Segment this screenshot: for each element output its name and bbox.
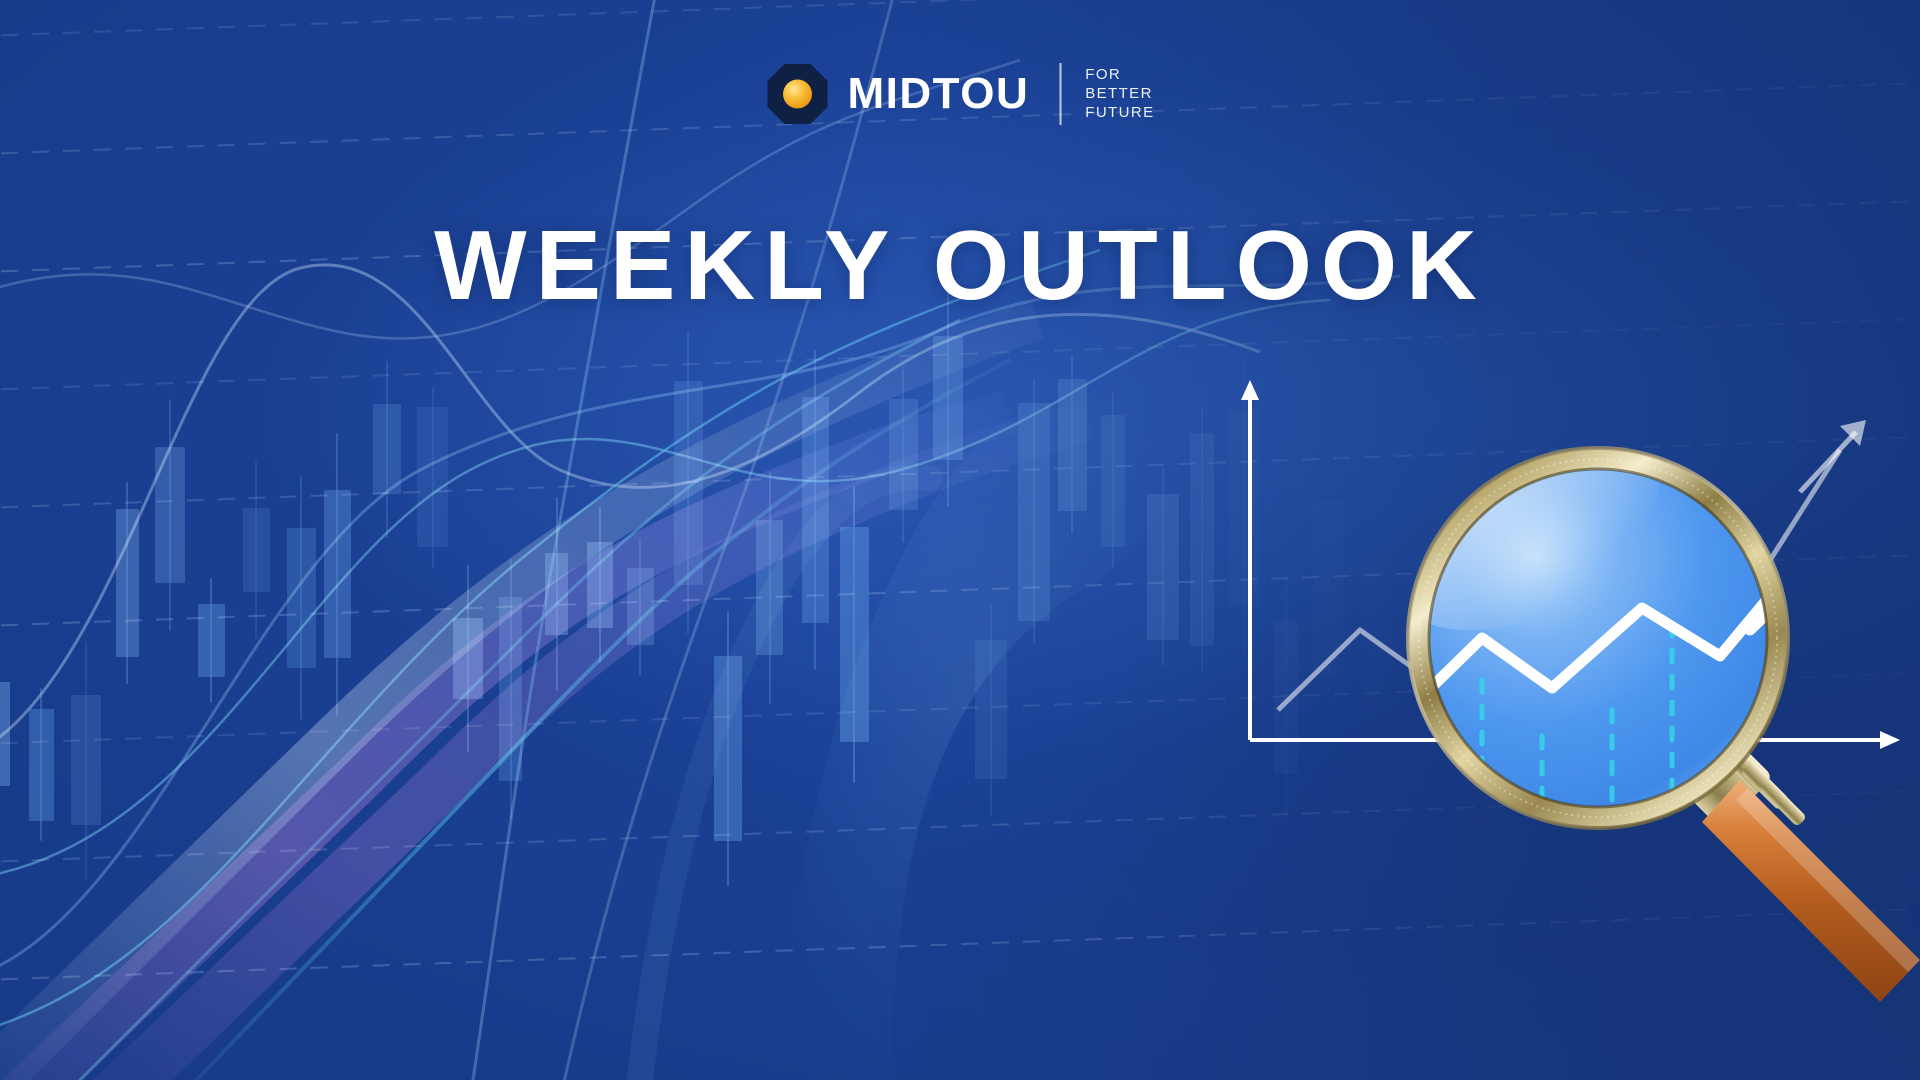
tagline-line-2: BETTER bbox=[1085, 86, 1154, 102]
tagline-line-1: FOR bbox=[1085, 67, 1154, 83]
arrow-up-icon bbox=[1241, 380, 1259, 400]
tagline-line-3: FUTURE bbox=[1085, 105, 1154, 121]
trend-arrow-up-right-icon bbox=[1800, 420, 1866, 492]
weekly-outlook-banner: MIDTOU FOR BETTER FUTURE WEEKLY OUTLOOK bbox=[0, 0, 1920, 1080]
logo-divider bbox=[1059, 63, 1061, 125]
arrow-right-icon bbox=[1880, 731, 1900, 749]
brand-logo-lockup[interactable]: MIDTOU FOR BETTER FUTURE bbox=[766, 62, 1155, 126]
logo-wordmark: MIDTOU bbox=[848, 72, 1030, 116]
logo-tagline: FOR BETTER FUTURE bbox=[1085, 67, 1154, 122]
page-title: WEEKLY OUTLOOK bbox=[0, 216, 1920, 314]
magnifying-glass-illustration bbox=[1220, 380, 1920, 1080]
magnifier bbox=[1342, 380, 1920, 1002]
octagon-gold-dot-icon bbox=[766, 62, 830, 126]
